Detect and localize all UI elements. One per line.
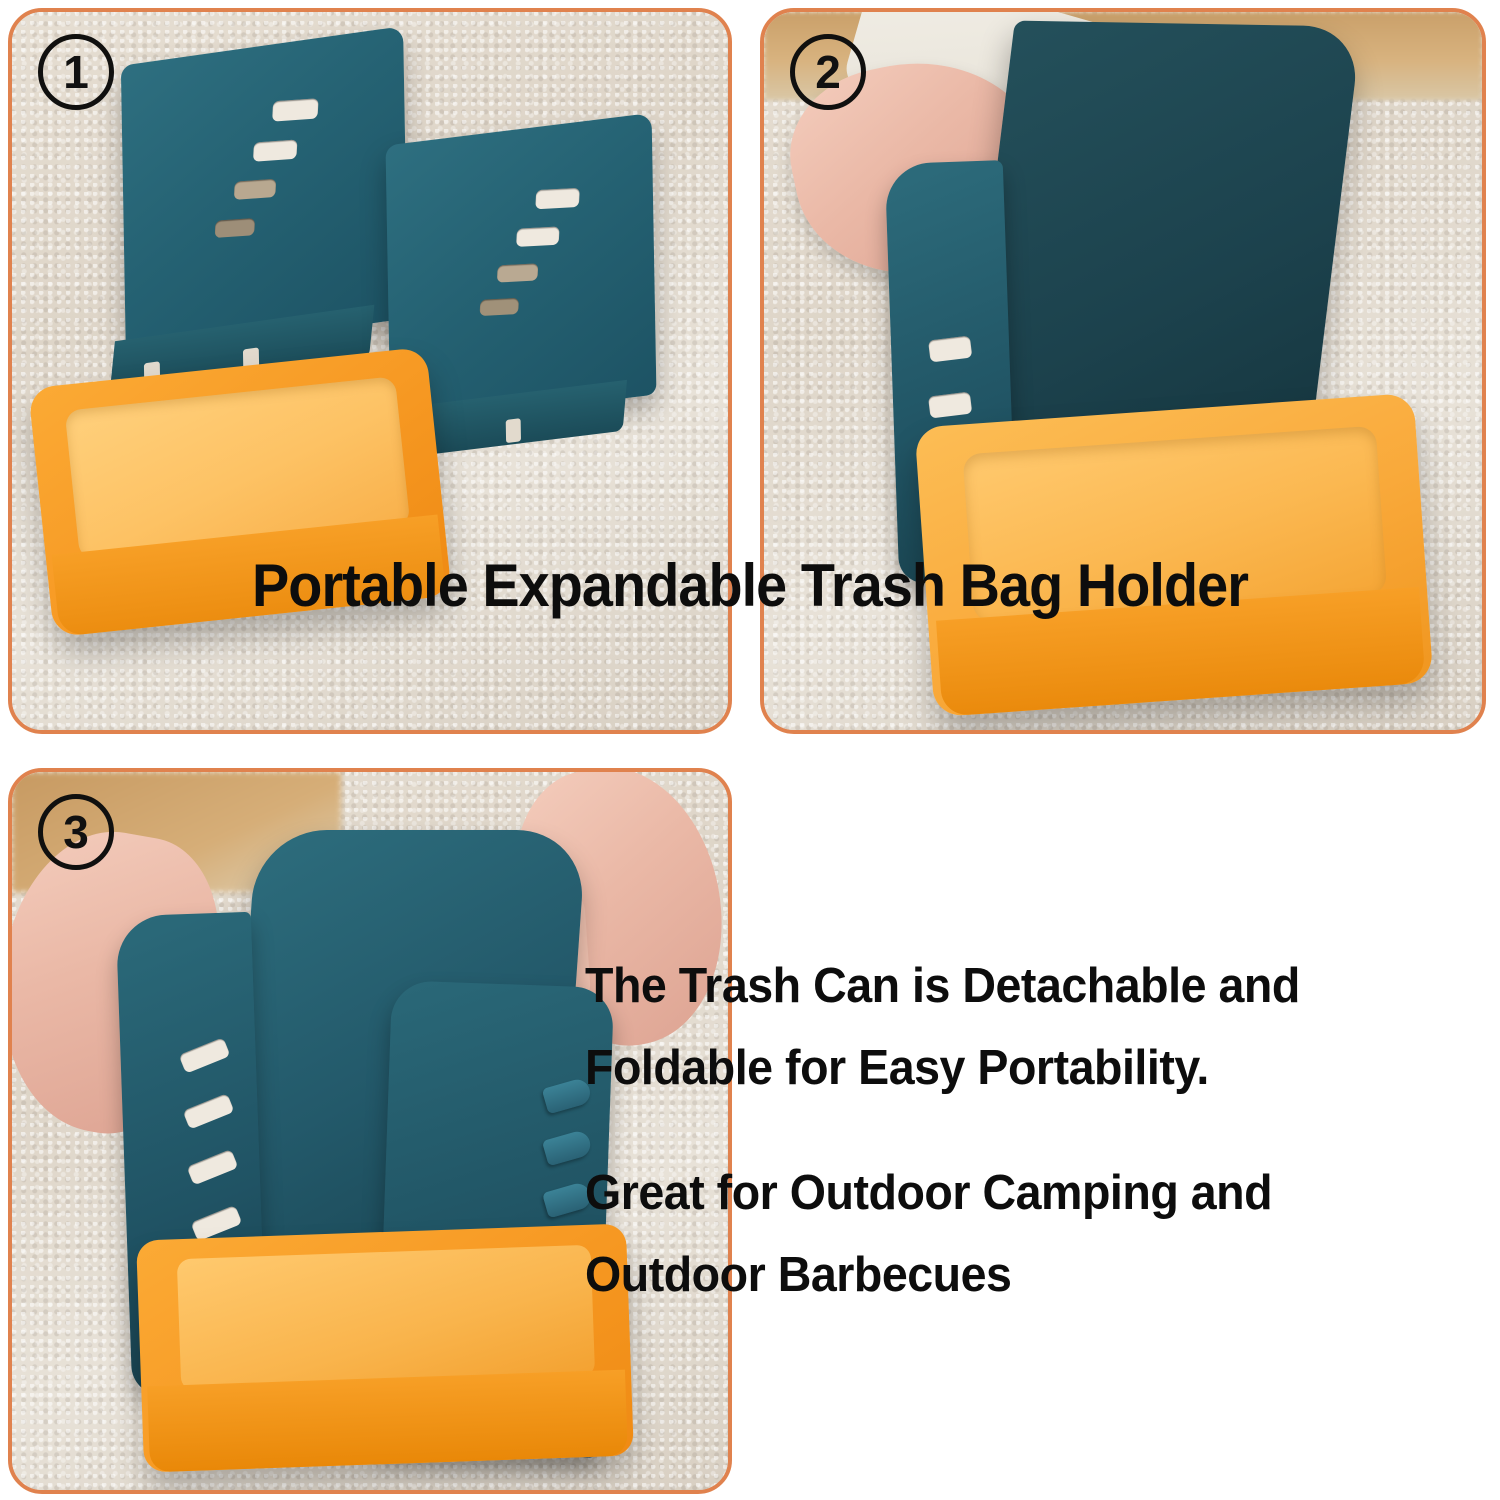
step-1-panel: 1 [8, 8, 732, 734]
slot-icon [183, 1093, 235, 1130]
feature-line-1: The Trash Can is Detachable and [585, 950, 1440, 1024]
feature-line-3: Great for Outdoor Camping and [585, 1157, 1440, 1231]
teal-lid [961, 21, 1361, 464]
feature-line-4: Outdoor Barbecues [585, 1239, 1440, 1313]
feature-text-block: The Trash Can is Detachable and Foldable… [585, 950, 1485, 1320]
step-badge-2: 2 [790, 34, 866, 110]
text-spacer [585, 1113, 1485, 1157]
teal-side-panel-a [121, 26, 408, 358]
product-infographic: 1 [0, 0, 1500, 1500]
notch-icon [506, 418, 521, 443]
slot-icon [186, 1149, 238, 1186]
slot-icon [497, 263, 539, 282]
slot-icon [272, 98, 319, 121]
slot-icon [928, 336, 972, 363]
slot-icon [234, 179, 276, 200]
product-headline: Portable Expandable Trash Bag Holder [53, 556, 1448, 616]
orange-base-tray [136, 1224, 634, 1473]
step-2-panel: 2 [760, 8, 1486, 734]
step-badge-3: 3 [38, 794, 114, 870]
slot-icon [516, 226, 560, 246]
slot-icon [215, 218, 255, 238]
slot-icon [190, 1205, 242, 1242]
tray-interior [177, 1245, 595, 1391]
step-2-photo [764, 12, 1482, 730]
step-badge-1: 1 [38, 34, 114, 110]
slot-icon [480, 298, 519, 316]
tray-front-wall [147, 1370, 628, 1473]
step-1-photo [12, 12, 728, 730]
feature-line-2: Foldable for Easy Portability. [585, 1032, 1440, 1106]
slot-icon [179, 1037, 231, 1074]
slot-icon [253, 139, 297, 161]
slot-icon [928, 392, 972, 419]
slot-icon [535, 188, 580, 209]
